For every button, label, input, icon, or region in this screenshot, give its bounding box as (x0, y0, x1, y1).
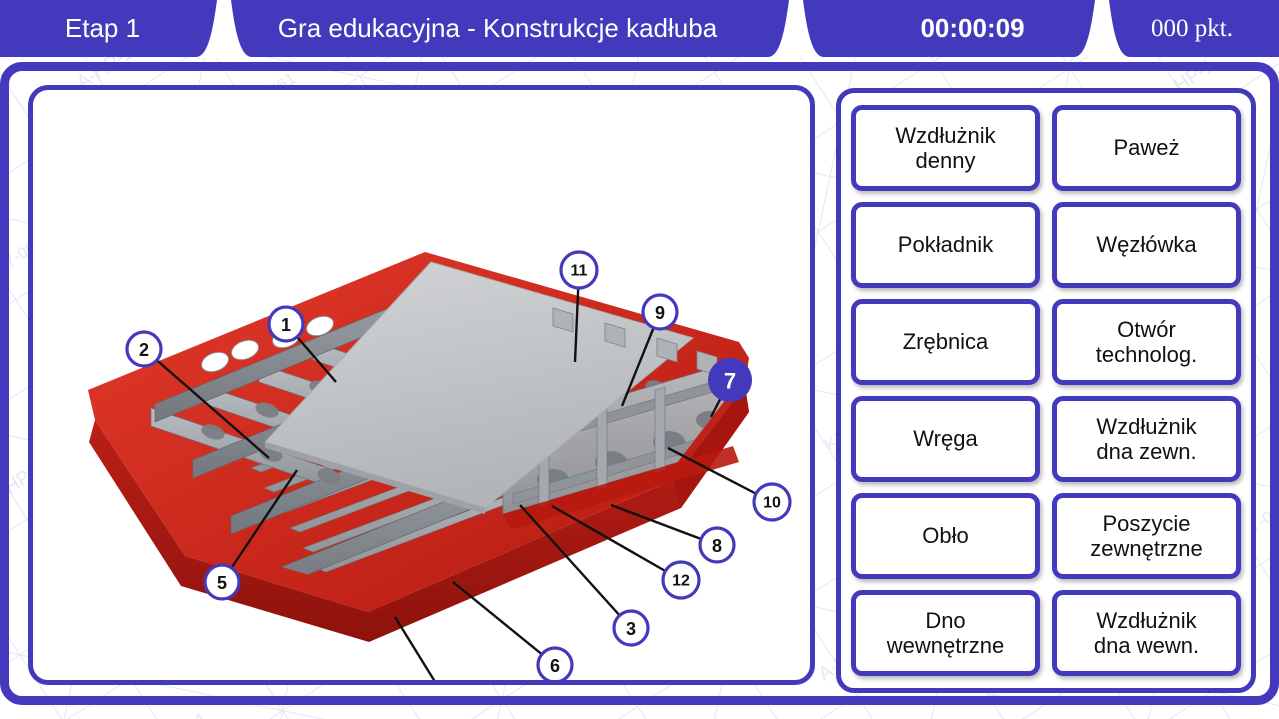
answer-option-2[interactable]: Paweż (1052, 105, 1241, 191)
hull-structure-render[interactable]: 123456789101112 (33, 90, 810, 680)
callout-number: 5 (217, 573, 227, 593)
callout-leader-line (453, 582, 555, 665)
answer-option-7[interactable]: Wręga (851, 396, 1040, 482)
answer-option-3[interactable]: Pokładnik (851, 202, 1040, 288)
answer-option-4[interactable]: Węzłówka (1052, 202, 1241, 288)
page-title: Gra edukacyjna - Konstrukcje kadłuba (225, 0, 770, 57)
callout-number: 11 (571, 263, 588, 280)
header-separator-icon (1074, 0, 1130, 57)
callout-number: 2 (139, 340, 149, 360)
callout-number: 3 (626, 619, 636, 639)
answer-options-panel[interactable]: Wzdłużnik dennyPaweżPokładnikWęzłówkaZrę… (836, 88, 1256, 693)
callout-number: 8 (712, 536, 722, 556)
callout-number: 7 (724, 369, 736, 394)
answer-option-8[interactable]: Wzdłużnik dna zewn. (1052, 396, 1241, 482)
answer-option-11[interactable]: Dno wewnętrzne (851, 590, 1040, 676)
answer-option-1[interactable]: Wzdłużnik denny (851, 105, 1040, 191)
callout-marker-6[interactable]: 6 (453, 582, 572, 680)
callout-number: 6 (550, 656, 560, 676)
callout-number: 12 (672, 573, 690, 590)
header-separator-icon (196, 0, 252, 57)
model-viewport[interactable]: 123456789101112 (28, 85, 815, 685)
callout-marker-4[interactable]: 4 (395, 617, 467, 680)
callout-number: 9 (655, 303, 665, 323)
timer-display: 00:00:09 (855, 0, 1090, 57)
callout-number: 1 (281, 315, 291, 335)
answer-option-12[interactable]: Wzdłużnik dna wewn. (1052, 590, 1241, 676)
callout-number: 10 (763, 495, 781, 512)
score-display: 000 pkt. (1105, 0, 1279, 57)
answer-option-5[interactable]: Zrębnica (851, 299, 1040, 385)
stage-label: Etap 1 (0, 0, 205, 57)
answer-option-10[interactable]: Poszycie zewnętrzne (1052, 493, 1241, 579)
header-separator-icon (768, 0, 824, 57)
answer-option-9[interactable]: Obło (851, 493, 1040, 579)
answer-option-6[interactable]: Otwór technolog. (1052, 299, 1241, 385)
